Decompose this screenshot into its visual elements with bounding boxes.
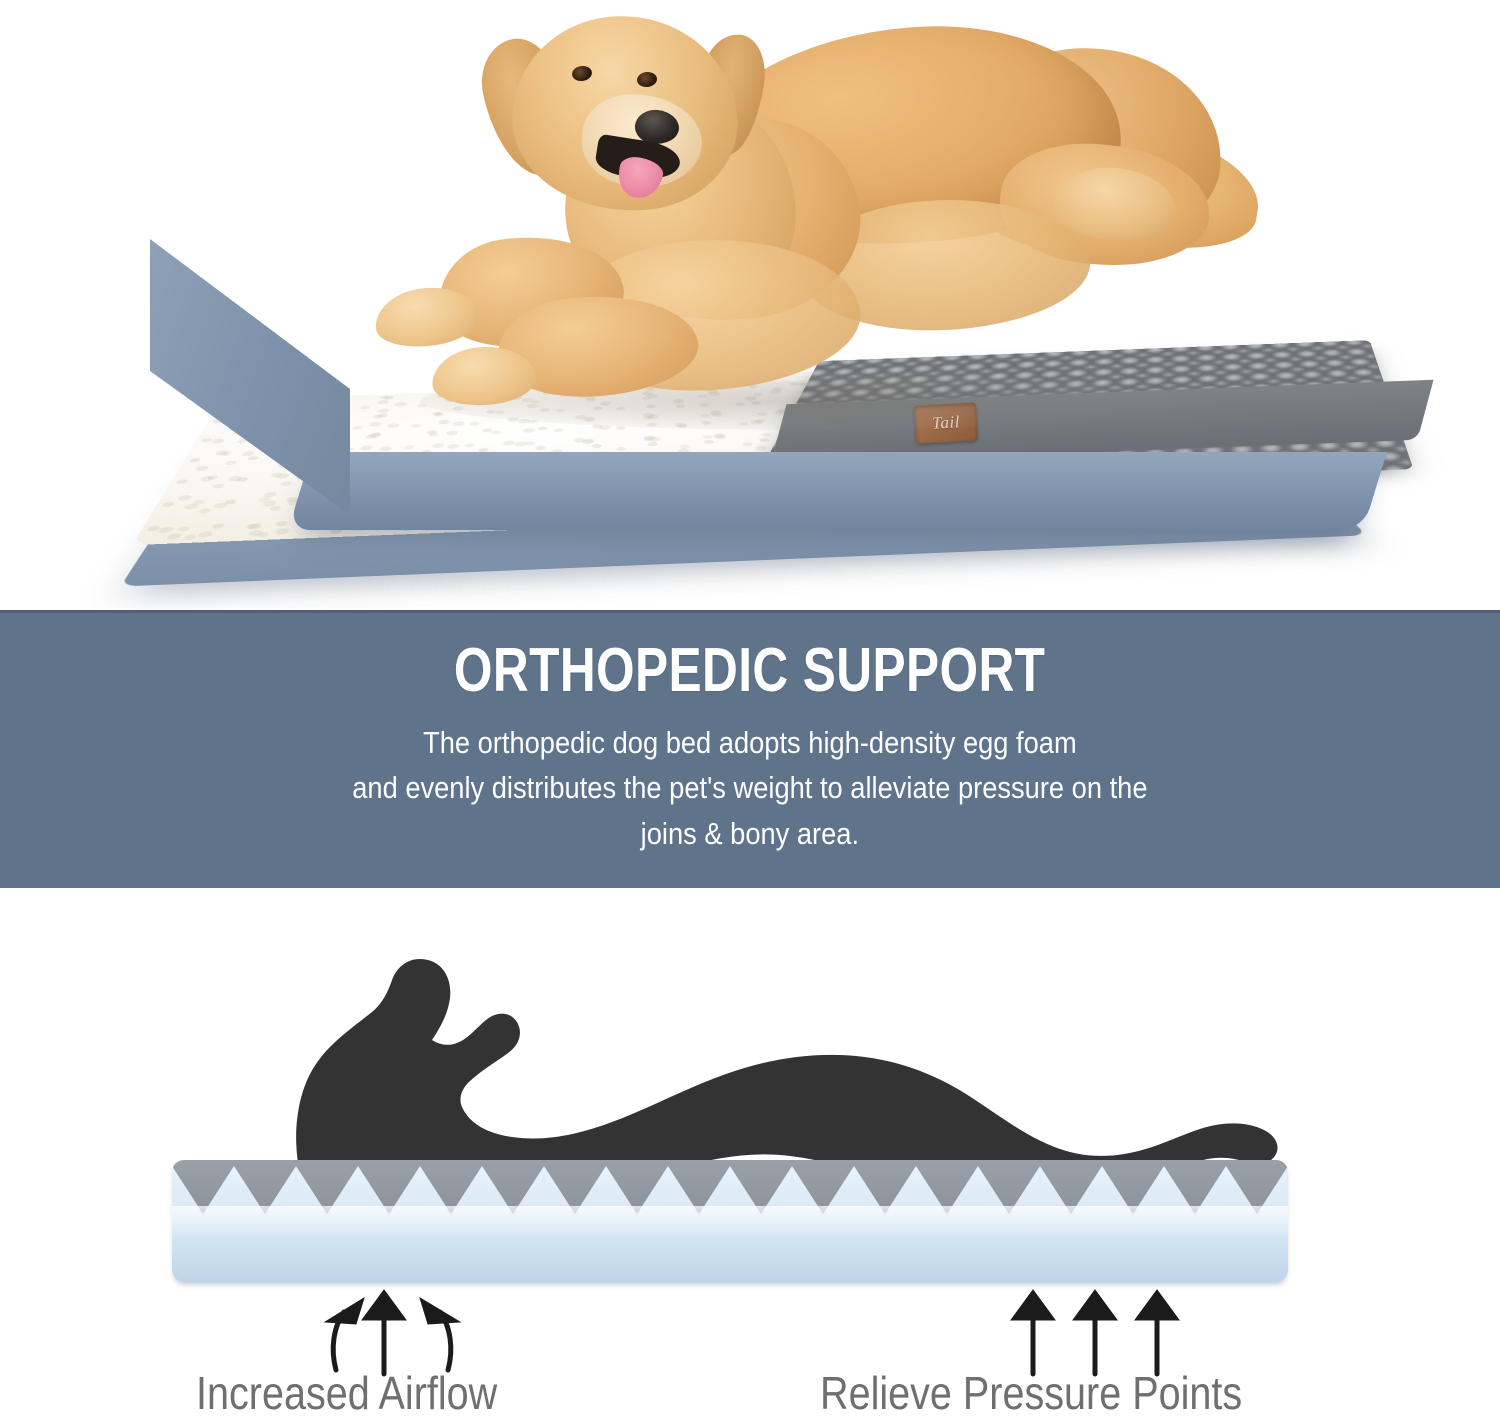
airflow-pressure-diagram: Increased Airflow Relieve Pressure Point…: [0, 888, 1500, 1416]
foam-egg-crate-teeth: [172, 1160, 1288, 1214]
arrow-airflow-3: [420, 1298, 460, 1370]
arrow-pressure-2: [1073, 1290, 1117, 1374]
caption-relieve-pressure: Relieve Pressure Points: [820, 1366, 1242, 1420]
hero-product-photo: Tail: [0, 0, 1500, 610]
foam-mattress-cross-section: [172, 1160, 1288, 1282]
banner-headline: ORTHOPEDIC SUPPORT: [454, 635, 1045, 706]
banner-description: The orthopedic dog bed adopts high-densi…: [352, 720, 1147, 856]
arrow-airflow-1: [325, 1298, 364, 1370]
golden-retriever-photo: [0, 0, 1500, 610]
arrow-airflow-2: [362, 1290, 406, 1374]
caption-increased-airflow: Increased Airflow: [196, 1366, 497, 1420]
arrow-pressure-1: [1011, 1290, 1055, 1374]
arrow-pressure-3: [1135, 1290, 1179, 1374]
orthopedic-support-banner: ORTHOPEDIC SUPPORT The orthopedic dog be…: [0, 610, 1500, 888]
diagram-captions: Increased Airflow Relieve Pressure Point…: [0, 1366, 1500, 1416]
